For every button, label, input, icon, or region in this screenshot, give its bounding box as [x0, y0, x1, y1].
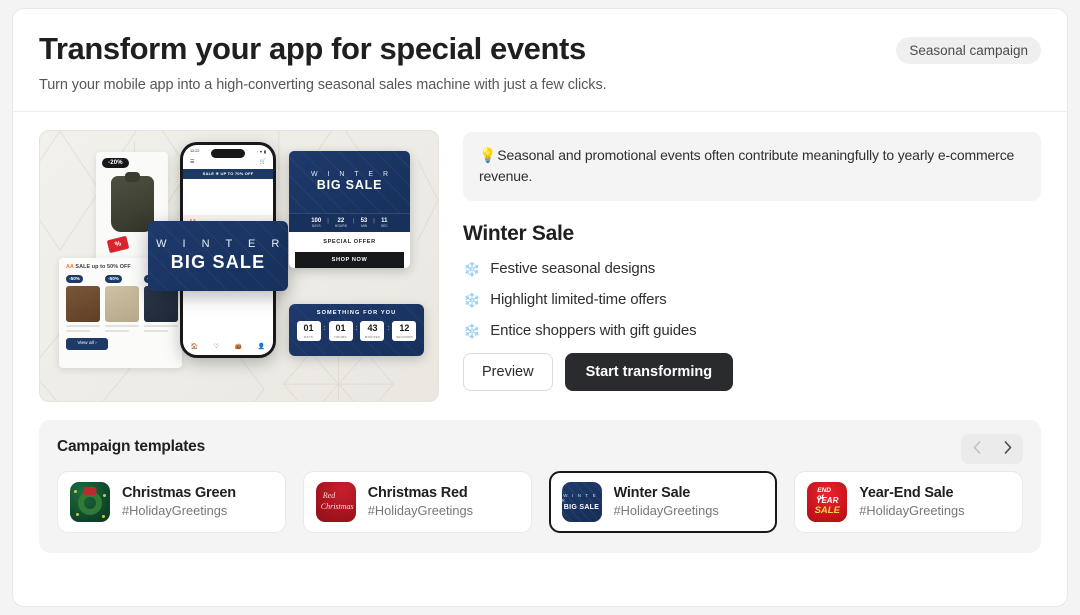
campaign-templates-section: Campaign templates [39, 420, 1041, 553]
preview-list-mark: AA [66, 264, 74, 270]
preview-product-tile: -50% [66, 275, 100, 332]
feature-item: ❄️ Festive seasonal designs [463, 260, 1041, 277]
status-badge: Seasonal campaign [896, 37, 1041, 64]
countdown-unit: 43 MINUTES [360, 321, 384, 341]
thumb-line-2: Christmas [321, 502, 354, 511]
template-tag: #HolidayGreetings [368, 503, 473, 518]
preview-product-tile: -50% [105, 275, 139, 332]
countdown-unit: 12 SECONDS [392, 321, 416, 341]
preview-view-all-button: View all › [66, 338, 108, 350]
template-name: Christmas Red [368, 485, 473, 501]
page-subtitle: Turn your mobile app into a high-convert… [39, 77, 1041, 93]
light-dot [74, 490, 77, 493]
offer-card-header: W I N T E R BIG SALE [289, 151, 410, 213]
preview-list-headline-text: SALE up to 50% OFF [75, 264, 130, 270]
countdown-value: 12 [392, 324, 416, 333]
snowflake-icon: ❄️ [463, 262, 480, 276]
thumb-line-1: Red [323, 491, 335, 500]
template-card-list: Christmas Green #HolidayGreetings Red Ch… [57, 471, 1023, 533]
phone-tab-bar: 🏠 ♡ 👜 👤 [183, 339, 273, 355]
offer-countdown-unit: 22 HOURS [335, 218, 347, 228]
banner-line-1: W I N T E R [150, 238, 286, 250]
preview-product-image [144, 286, 178, 322]
countdown-value: 43 [360, 324, 384, 333]
phone-sale-strip: SALE ☀ UP TO 70% OFF [183, 169, 273, 179]
preview-button[interactable]: Preview [463, 353, 553, 391]
template-info: Christmas Green #HolidayGreetings [122, 485, 236, 518]
offer-countdown-separator: | [353, 218, 355, 228]
offer-countdown-separator: | [373, 218, 375, 228]
countdown-separator: : [387, 321, 389, 332]
countdown-unit: 01 DAYS [297, 321, 321, 341]
hamburger-icon: ☰ [190, 159, 194, 165]
content-body: -20% AA SALE up to 50% OFF -50% [13, 112, 1067, 402]
preview-text-line [144, 325, 178, 327]
start-transforming-button[interactable]: Start transforming [565, 353, 734, 391]
red-christmas-thumb-icon: Red Christmas [316, 482, 356, 522]
wreath-thumb-icon [70, 482, 110, 522]
preview-product-image [66, 286, 100, 322]
preview-product-image [105, 286, 139, 322]
countdown-value: 01 [297, 324, 321, 333]
lightbulb-icon: 💡 [479, 147, 496, 163]
phone-time: 12:22 [190, 149, 200, 154]
template-info: Winter Sale #HolidayGreetings [614, 485, 719, 518]
light-dot [103, 494, 106, 497]
countdown-label: SECONDS [392, 335, 416, 339]
countdown-label: MINUTES [360, 335, 384, 339]
page-title: Transform your app for special events [39, 31, 1041, 67]
template-card-year-end-sale[interactable]: END of YEAR SALE Year-End Sale #HolidayG… [794, 471, 1023, 533]
preview-offer-card: W I N T E R BIG SALE 100 DAYS | 22 HOURS [289, 151, 410, 268]
page-header: Transform your app for special events Tu… [13, 9, 1067, 112]
countdown-card-title: SOMETHING FOR YOU [289, 310, 424, 316]
preview-text-line [66, 330, 90, 332]
carousel-prev-button[interactable] [961, 434, 992, 464]
countdown-label: DAYS [297, 335, 321, 339]
feature-label: Highlight limited-time offers [490, 291, 666, 308]
countdown-value: 01 [329, 324, 353, 333]
campaign-preview-image: -20% AA SALE up to 50% OFF -50% [39, 130, 439, 402]
info-tip: 💡Seasonal and promotional events often c… [463, 132, 1041, 201]
feature-label: Festive seasonal designs [490, 260, 655, 277]
template-name: Winter Sale [614, 485, 719, 501]
preview-text-line [66, 325, 100, 327]
offer-countdown-unit: 53 MIN [361, 218, 368, 228]
info-tip-text: Seasonal and promotional events often co… [479, 147, 1014, 185]
thumb-line-3: SALE [815, 505, 840, 516]
template-name: Year-End Sale [859, 485, 964, 501]
offer-line-1: W I N T E R [307, 171, 392, 178]
preview-product-pill: -50% [66, 275, 83, 283]
preview-countdown-card: SOMETHING FOR YOU 01 DAYS : 01 HOURS : [289, 304, 424, 356]
template-tag: #HolidayGreetings [859, 503, 964, 518]
offer-countdown-label: MIN [361, 224, 368, 228]
offer-countdown-separator: | [327, 218, 329, 228]
countdown-separator: : [356, 321, 358, 332]
template-info: Year-End Sale #HolidayGreetings [859, 485, 964, 518]
preview-price-tag-icon [107, 235, 130, 252]
chevron-left-icon [973, 441, 981, 457]
offer-special-text: SPECIAL OFFER [289, 232, 410, 252]
preview-winter-banner: W I N T E R BIG SALE [148, 221, 288, 291]
templates-title: Campaign templates [57, 438, 1023, 456]
snowflake-icon: ❄️ [463, 324, 480, 338]
thumb-line-2: YEAR [816, 496, 838, 505]
offer-line-2: BIG SALE [317, 178, 382, 192]
countdown-card-row: 01 DAYS : 01 HOURS : 43 MINUTES [289, 321, 424, 341]
countdown-label: HOURS [329, 335, 353, 339]
preview-jacket-image [111, 176, 154, 232]
offer-countdown-unit: 100 DAYS [311, 218, 321, 228]
offer-shop-now-button: SHOP NOW [295, 252, 404, 268]
banner-line-2: BIG SALE [171, 252, 266, 273]
light-dot [102, 515, 105, 518]
template-card-christmas-red[interactable]: Red Christmas Christmas Red #HolidayGree… [303, 471, 532, 533]
template-tag: #HolidayGreetings [614, 503, 719, 518]
offer-countdown: 100 DAYS | 22 HOURS | 53 MIN [289, 213, 410, 232]
offer-countdown-label: SEC [381, 224, 388, 228]
template-card-winter-sale[interactable]: W I N T E R BIG SALE Winter Sale #Holida… [549, 471, 778, 533]
chevron-right-icon [1004, 441, 1012, 457]
countdown-separator: : [324, 321, 326, 332]
template-tag: #HolidayGreetings [122, 503, 236, 518]
snowflake-icon: ❄️ [463, 293, 480, 307]
main-panel: Transform your app for special events Tu… [12, 8, 1068, 607]
template-card-christmas-green[interactable]: Christmas Green #HolidayGreetings [57, 471, 286, 533]
bow-shape [84, 487, 97, 495]
thumb-line-2: BIG SALE [564, 504, 599, 511]
feature-item: ❄️ Highlight limited-time offers [463, 291, 1041, 308]
preview-text-line [105, 325, 139, 327]
offer-countdown-label: HOURS [335, 224, 347, 228]
offer-countdown-label: DAYS [311, 224, 321, 228]
preview-text-line [144, 330, 168, 332]
template-name: Christmas Green [122, 485, 236, 501]
phone-status-icons: ▫ ▼ ▮ [257, 149, 266, 154]
end-of-year-sale-thumb-icon: END of YEAR SALE [807, 482, 847, 522]
cart-icon: 🛒 [260, 159, 266, 165]
campaign-title: Winter Sale [463, 222, 1041, 246]
bag-icon: 👜 [235, 343, 242, 350]
winter-big-sale-thumb-icon: W I N T E R BIG SALE [562, 482, 602, 522]
profile-icon: 👤 [258, 343, 265, 350]
template-info: Christmas Red #HolidayGreetings [368, 485, 473, 518]
feature-item: ❄️ Entice shoppers with gift guides [463, 322, 1041, 339]
countdown-unit: 01 HOURS [329, 321, 353, 341]
preview-product-pill: -50% [105, 275, 122, 283]
phone-notch [211, 149, 245, 158]
preview-discount-badge: -20% [102, 158, 129, 168]
preview-text-line [105, 330, 129, 332]
heart-icon: ♡ [214, 343, 219, 350]
phone-hero-area [183, 179, 273, 215]
templates-carousel-nav [961, 434, 1023, 464]
feature-label: Entice shoppers with gift guides [490, 322, 696, 339]
carousel-next-button[interactable] [992, 434, 1023, 464]
feature-list: ❄️ Festive seasonal designs ❄️ Highlight… [463, 260, 1041, 339]
action-buttons: Preview Start transforming [463, 353, 1041, 391]
page-root: Transform your app for special events Tu… [0, 0, 1080, 615]
campaign-details: 💡Seasonal and promotional events often c… [463, 130, 1041, 402]
thumb-line-1: W I N T E R [562, 493, 602, 503]
offer-countdown-unit: 11 SEC [381, 218, 388, 228]
home-icon: 🏠 [191, 343, 198, 350]
light-dot [76, 513, 79, 516]
